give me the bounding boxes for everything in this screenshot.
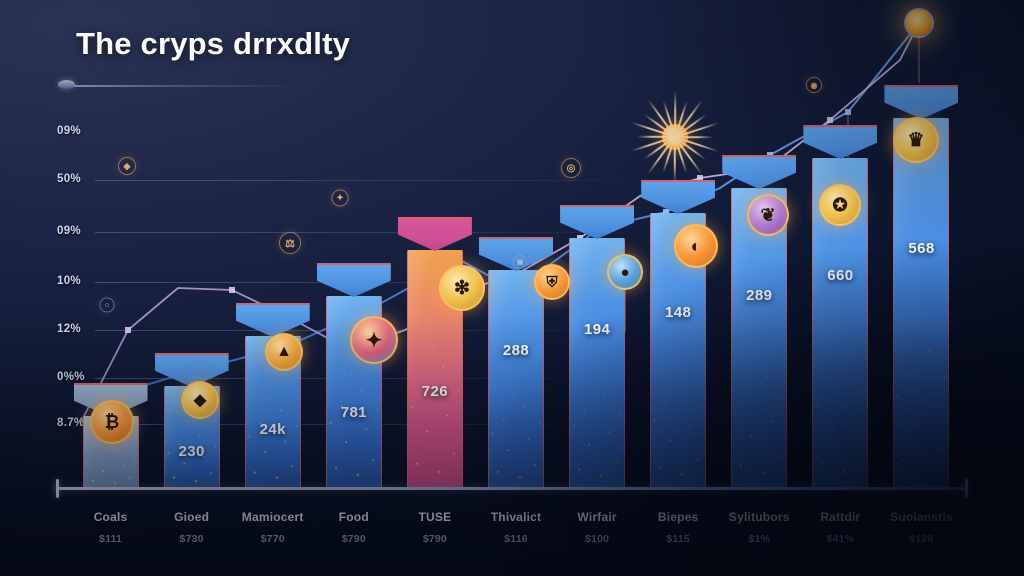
- bar-cap-shape: [641, 180, 715, 214]
- sunburst-ray: [674, 137, 676, 183]
- x-tick-name: Thivalict: [491, 510, 541, 524]
- title-underline: [60, 85, 298, 87]
- emblem-glyph: ●: [607, 254, 643, 290]
- bar-cap-shape: [722, 155, 796, 189]
- globe-orb-icon[interactable]: ✦: [350, 316, 398, 364]
- emblem-glyph: ◐: [674, 224, 718, 268]
- nft-artifact-icon[interactable]: ◐: [674, 224, 718, 268]
- emblem-glyph: ⛨: [534, 264, 570, 300]
- emblem-glyph: ❇: [439, 265, 485, 311]
- x-tick-6[interactable]: Wirfair$100: [577, 510, 616, 545]
- bar-cap-shape: [236, 303, 310, 337]
- emblem-glyph: ✦: [350, 316, 398, 364]
- floating-badge-icon[interactable]: ⚖: [279, 232, 301, 254]
- creature-icon-icon[interactable]: ❦: [747, 194, 789, 236]
- x-axis-cap-left: [56, 479, 59, 498]
- x-tick-9[interactable]: Rattdir$41%: [820, 510, 860, 545]
- lion-coin-icon[interactable]: ✪: [819, 184, 861, 226]
- sunburst-ray: [637, 136, 675, 138]
- floating-badge-icon[interactable]: ◉: [806, 77, 822, 93]
- crown-cluster-icon[interactable]: ♛: [893, 117, 939, 163]
- floating-badge-icon[interactable]: ▣: [513, 255, 527, 269]
- bar-value-label: 726: [422, 383, 448, 400]
- x-tick-name: Mamiocert: [242, 510, 304, 524]
- x-tick-7[interactable]: Biepes$115: [658, 510, 699, 545]
- x-tick-subvalue: $1%: [729, 533, 790, 545]
- bar-value-label: 230: [179, 443, 205, 460]
- line-node-marker: [827, 117, 833, 123]
- x-tick-2[interactable]: Mamiocert$770: [242, 510, 304, 545]
- x-tick-5[interactable]: Thivalict$116: [491, 510, 541, 545]
- line-node-marker: [229, 287, 235, 293]
- x-tick-name: Wirfair: [577, 510, 616, 524]
- bar-cap-7: [641, 181, 715, 215]
- bar-cap-10: [884, 86, 958, 120]
- emblem-glyph: ▲: [265, 333, 303, 371]
- x-tick-name: TUSE: [419, 510, 452, 524]
- bar-outline: [893, 118, 949, 488]
- bar-value-label: 660: [827, 267, 853, 284]
- emblem-glyph: ♛: [893, 117, 939, 163]
- bar-value-label: 289: [746, 287, 772, 304]
- gem-crystal-icon[interactable]: ▲: [265, 333, 303, 371]
- bar-cap-3: [317, 264, 391, 298]
- bitcoin-coin-icon[interactable]: ₿: [90, 400, 134, 444]
- bar-cap-6: [560, 206, 634, 240]
- x-tick-subvalue: $770: [242, 533, 304, 545]
- bar-5[interactable]: [488, 270, 544, 488]
- bar-cap-shape: [560, 205, 634, 239]
- bar-cap-8: [722, 156, 796, 190]
- sunburst-ray: [647, 137, 675, 175]
- x-tick-1[interactable]: Gioed$730: [174, 510, 209, 545]
- x-tick-subvalue: $100: [577, 533, 616, 545]
- x-tick-10[interactable]: Suoianstis$128: [890, 510, 953, 545]
- bar-value-label: 781: [341, 404, 367, 421]
- x-tick-subvalue: $128: [890, 533, 953, 545]
- x-tick-subvalue: $790: [419, 533, 452, 545]
- emblem-glyph: ✪: [819, 184, 861, 226]
- x-tick-subvalue: $115: [658, 533, 699, 545]
- bar-10[interactable]: [893, 118, 949, 488]
- bar-cap-shape: [803, 125, 877, 159]
- shield-token-icon[interactable]: ⛨: [534, 264, 570, 300]
- x-tick-subvalue: $116: [491, 533, 541, 545]
- x-tick-3[interactable]: Food$790: [339, 510, 369, 545]
- title-underline-dot: [58, 80, 75, 89]
- bar-value-label: 568: [908, 240, 934, 257]
- planet-orb-icon[interactable]: ●: [607, 254, 643, 290]
- bar-cap-shape: [884, 85, 958, 119]
- x-tick-0[interactable]: Coals$111: [94, 510, 128, 545]
- sunburst-icon: [628, 90, 722, 184]
- line-node-marker: [125, 327, 131, 333]
- x-tick-subvalue: $111: [94, 533, 128, 545]
- floating-badge-icon[interactable]: ◎: [561, 158, 581, 178]
- token-badge-icon[interactable]: ❇: [439, 265, 485, 311]
- x-axis-line: [56, 487, 968, 490]
- bar-value-label: 148: [665, 304, 691, 321]
- bar-cap-4: [398, 218, 472, 252]
- bar-cap-9: [803, 126, 877, 160]
- bar-cap-shape: [317, 263, 391, 297]
- x-tick-4[interactable]: TUSE$790: [419, 510, 452, 545]
- bar-cap-shape: [398, 217, 472, 251]
- x-tick-name: Coals: [94, 510, 128, 524]
- x-tick-subvalue: $41%: [820, 533, 860, 545]
- x-tick-name: Rattdir: [820, 510, 860, 524]
- bar-outline: [488, 270, 544, 488]
- emblem-glyph: ₿: [90, 400, 134, 444]
- x-tick-name: Sylitubors: [729, 510, 790, 524]
- bar-value-label: 194: [584, 321, 610, 338]
- floating-badge-icon[interactable]: ◆: [118, 157, 136, 175]
- apex-glow-node: [904, 8, 934, 38]
- x-tick-8[interactable]: Sylitubors$1%: [729, 510, 790, 545]
- page-title: The cryps drrxdlty: [76, 26, 350, 62]
- emblem-glyph: ◆: [181, 381, 219, 419]
- x-axis-cap-right: [965, 479, 968, 498]
- floating-badge-icon[interactable]: ✦: [332, 190, 349, 207]
- x-tick-subvalue: $790: [339, 533, 369, 545]
- chart-canvas: 09%50%09%10%12%0%%8.7% 23024k78172628819…: [0, 0, 1024, 576]
- x-tick-name: Biepes: [658, 510, 699, 524]
- bar-value-label: 288: [503, 342, 529, 359]
- floating-badge-icon[interactable]: ○: [100, 298, 115, 313]
- bar-value-label: 24k: [260, 421, 286, 438]
- emblem-glyph: ❦: [747, 194, 789, 236]
- ethereum-coin-icon[interactable]: ◆: [181, 381, 219, 419]
- x-tick-name: Suoianstis: [890, 510, 953, 524]
- x-tick-name: Gioed: [174, 510, 209, 524]
- x-tick-subvalue: $730: [174, 533, 209, 545]
- x-tick-name: Food: [339, 510, 369, 524]
